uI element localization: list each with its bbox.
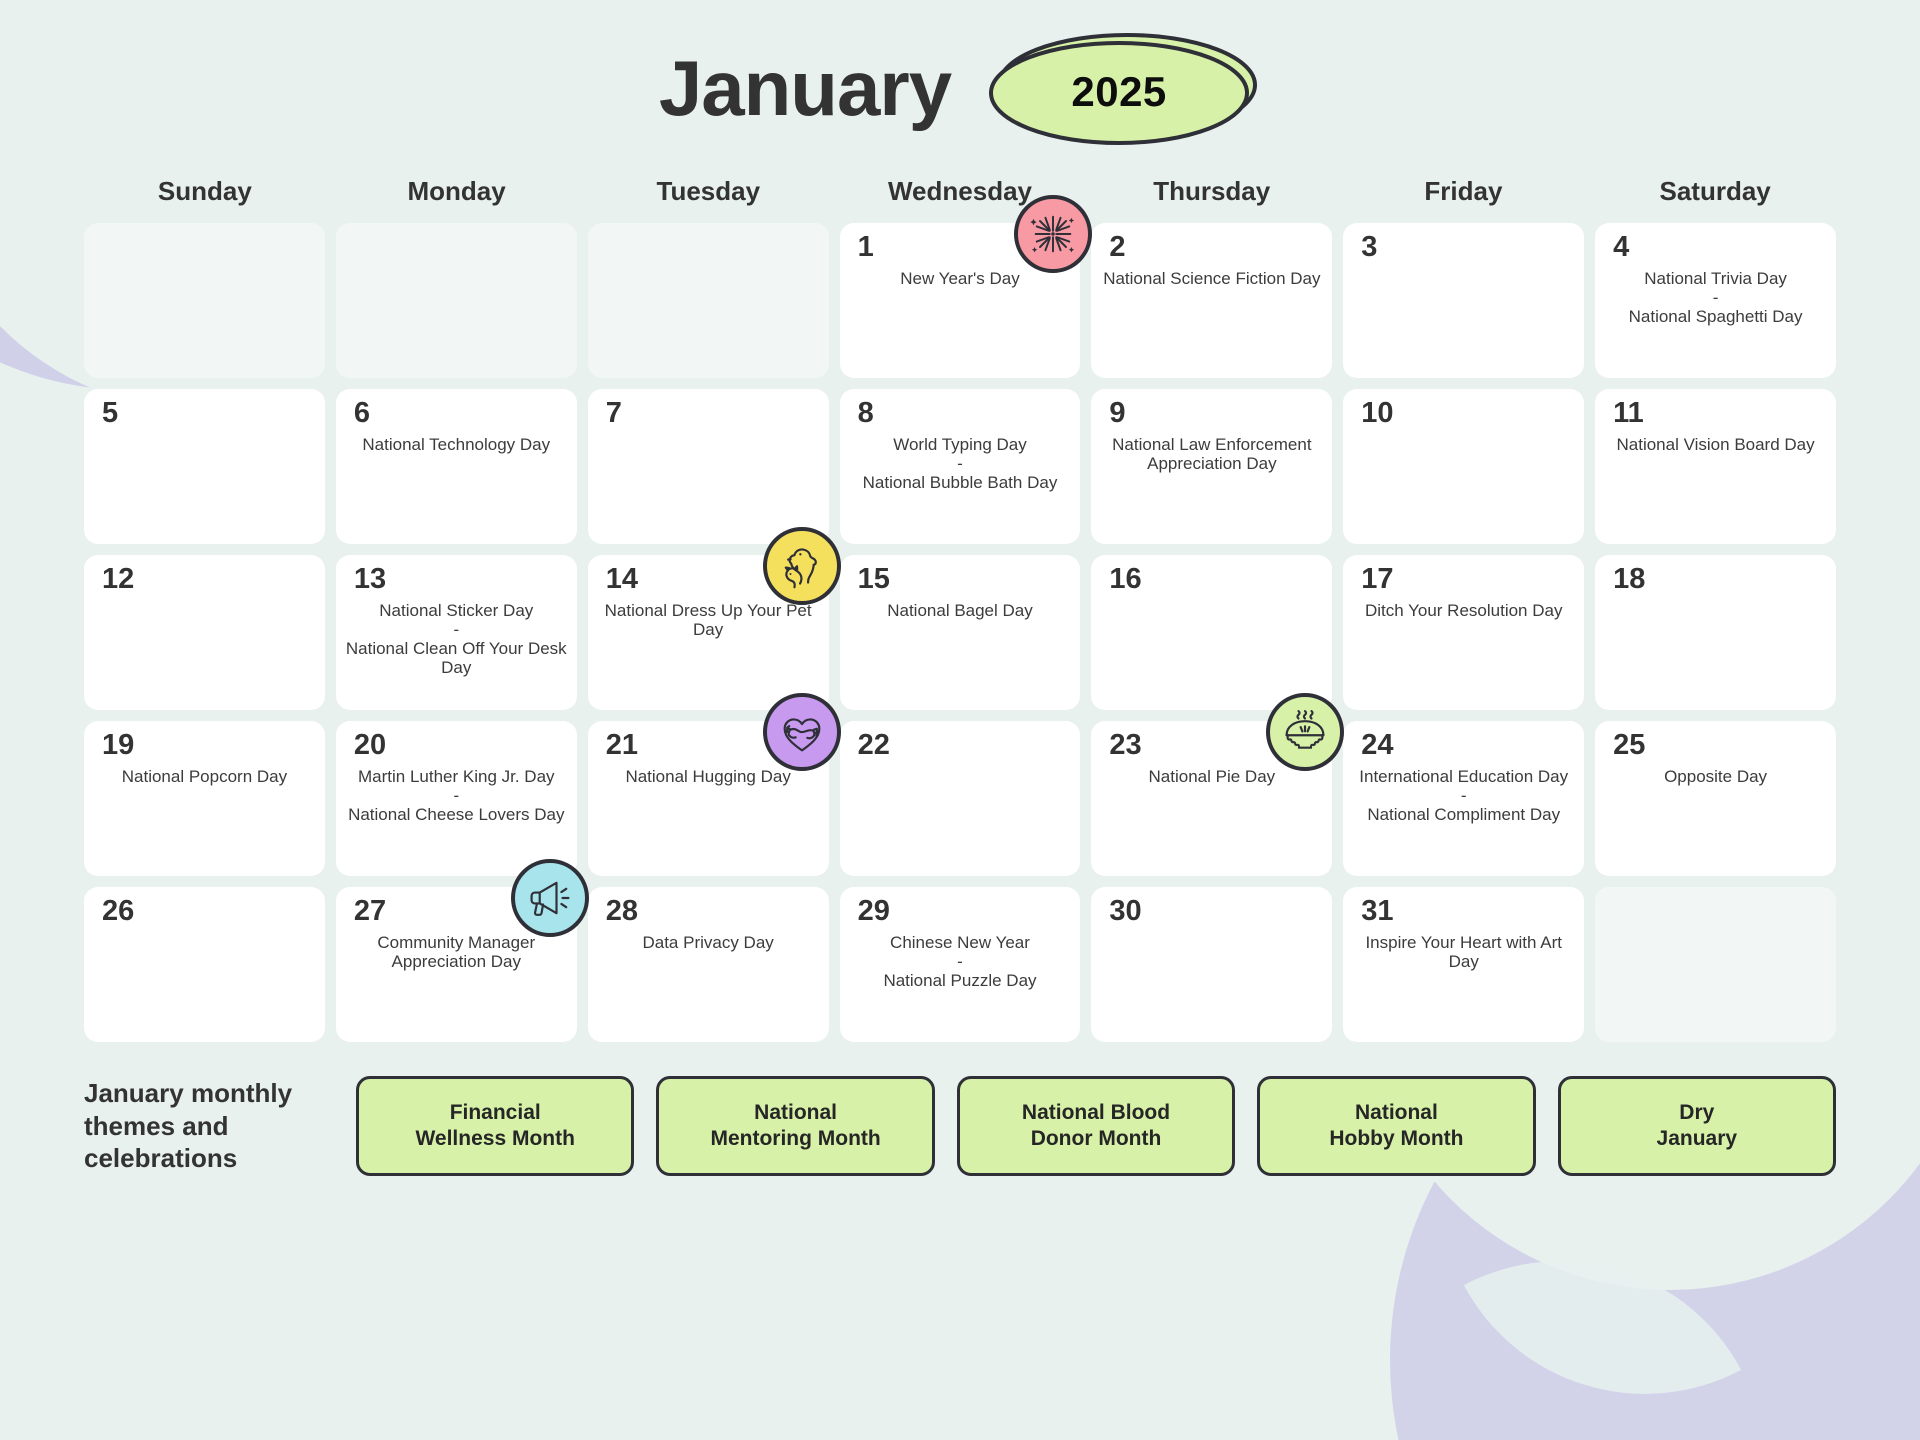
calendar-day-cell[interactable]: 18: [1595, 555, 1836, 710]
day-number: 1: [858, 233, 874, 262]
day-number: 15: [858, 565, 890, 594]
event-label: National Law Enforcement Appreciation Da…: [1099, 435, 1324, 473]
day-events: New Year's Day: [848, 269, 1073, 288]
event-label: National Popcorn Day: [92, 767, 317, 786]
day-events: National Sticker Day-National Clean Off …: [344, 601, 569, 677]
event-label: National Clean Off Your Desk Day: [344, 639, 569, 677]
event-label: National Sticker Day: [344, 601, 569, 620]
day-number: 17: [1361, 565, 1393, 594]
calendar-day-cell[interactable]: 4National Trivia Day-National Spaghetti …: [1595, 223, 1836, 378]
calendar-day-cell[interactable]: 11National Vision Board Day: [1595, 389, 1836, 544]
calendar-day-cell[interactable]: 19National Popcorn Day: [84, 721, 325, 876]
day-events: Chinese New Year-National Puzzle Day: [848, 933, 1073, 990]
event-label: National Spaghetti Day: [1603, 307, 1828, 326]
event-label: Community Manager Appreciation Day: [344, 933, 569, 971]
heart-hug-icon: [776, 706, 828, 758]
calendar-day-cell[interactable]: 27Community Manager Appreciation Day: [336, 887, 577, 1042]
day-events: National Bagel Day: [848, 601, 1073, 620]
day-events: National Pie Day: [1099, 767, 1324, 786]
calendar-day-cell[interactable]: 9National Law Enforcement Appreciation D…: [1091, 389, 1332, 544]
day-events: Community Manager Appreciation Day: [344, 933, 569, 971]
calendar-day-cell[interactable]: 20Martin Luther King Jr. Day-National Ch…: [336, 721, 577, 876]
event-separator: -: [344, 786, 569, 805]
weekday-header-friday: Friday: [1343, 176, 1585, 207]
day-events: National Science Fiction Day: [1099, 269, 1324, 288]
year-label: 2025: [1071, 68, 1166, 116]
fireworks-icon-badge: [1014, 195, 1092, 273]
calendar-day-cell[interactable]: 17Ditch Your Resolution Day: [1343, 555, 1584, 710]
day-number: 25: [1613, 731, 1645, 760]
calendar-day-cell[interactable]: 13National Sticker Day-National Clean Of…: [336, 555, 577, 710]
calendar-page: January 2025 SundayMondayTuesdayWednesda…: [0, 0, 1920, 1440]
calendar-cell-empty: [336, 223, 577, 378]
dog-cat-icon: [776, 540, 828, 592]
calendar-day-cell[interactable]: 25Opposite Day: [1595, 721, 1836, 876]
event-label: Martin Luther King Jr. Day: [344, 767, 569, 786]
event-label: National Compliment Day: [1351, 805, 1576, 824]
day-number: 20: [354, 731, 386, 760]
day-number: 2: [1109, 233, 1125, 262]
event-label: National Cheese Lovers Day: [344, 805, 569, 824]
day-number: 14: [606, 565, 638, 594]
calendar-day-cell[interactable]: 23National Pie Day: [1091, 721, 1332, 876]
day-number: 3: [1361, 233, 1377, 262]
day-number: 22: [858, 731, 890, 760]
event-label: World Typing Day: [848, 435, 1073, 454]
weekday-header-row: SundayMondayTuesdayWednesdayThursdayFrid…: [0, 176, 1920, 207]
monthly-theme-chip[interactable]: National Blood Donor Month: [957, 1076, 1235, 1176]
monthly-theme-chip[interactable]: Dry January: [1558, 1076, 1836, 1176]
heart-hug-icon-badge: [763, 693, 841, 771]
calendar-day-cell[interactable]: 29Chinese New Year-National Puzzle Day: [840, 887, 1081, 1042]
day-number: 6: [354, 399, 370, 428]
monthly-theme-chip[interactable]: National Hobby Month: [1257, 1076, 1535, 1176]
weekday-header-thursday: Thursday: [1091, 176, 1333, 207]
calendar-day-cell[interactable]: 8World Typing Day-National Bubble Bath D…: [840, 389, 1081, 544]
day-number: 23: [1109, 731, 1141, 760]
calendar-day-cell[interactable]: 22: [840, 721, 1081, 876]
event-label: National Science Fiction Day: [1099, 269, 1324, 288]
day-events: National Trivia Day-National Spaghetti D…: [1603, 269, 1828, 326]
day-number: 5: [102, 399, 118, 428]
megaphone-icon-badge: [511, 859, 589, 937]
event-label: National Hugging Day: [596, 767, 821, 786]
day-number: 9: [1109, 399, 1125, 428]
weekday-header-saturday: Saturday: [1594, 176, 1836, 207]
calendar-day-cell[interactable]: 3: [1343, 223, 1584, 378]
calendar-day-cell[interactable]: 31Inspire Your Heart with Art Day: [1343, 887, 1584, 1042]
fireworks-icon: [1027, 208, 1079, 260]
monthly-themes-section: January monthly themes and celebrations …: [0, 1042, 1920, 1176]
event-label: National Technology Day: [344, 435, 569, 454]
calendar-header: January 2025: [0, 0, 1920, 176]
event-label: Chinese New Year: [848, 933, 1073, 952]
calendar-day-cell[interactable]: 30: [1091, 887, 1332, 1042]
dog-cat-icon-badge: [763, 527, 841, 605]
event-label: Opposite Day: [1603, 767, 1828, 786]
day-number: 16: [1109, 565, 1141, 594]
day-events: National Law Enforcement Appreciation Da…: [1099, 435, 1324, 473]
calendar-cell-empty: [84, 223, 325, 378]
calendar-day-cell[interactable]: 5: [84, 389, 325, 544]
calendar-day-cell[interactable]: 24International Education Day-National C…: [1343, 721, 1584, 876]
event-label: National Pie Day: [1099, 767, 1324, 786]
event-separator: -: [1351, 786, 1576, 805]
calendar-day-cell[interactable]: 1New Year's Day: [840, 223, 1081, 378]
event-separator: -: [1603, 288, 1828, 307]
monthly-themes-title: January monthly themes and celebrations: [84, 1077, 334, 1175]
day-events: Ditch Your Resolution Day: [1351, 601, 1576, 620]
year-badge: 2025: [985, 27, 1261, 149]
day-number: 7: [606, 399, 622, 428]
day-events: Inspire Your Heart with Art Day: [1351, 933, 1576, 971]
day-events: World Typing Day-National Bubble Bath Da…: [848, 435, 1073, 492]
pie-icon: [1279, 706, 1331, 758]
monthly-theme-chip[interactable]: Financial Wellness Month: [356, 1076, 634, 1176]
event-label: National Trivia Day: [1603, 269, 1828, 288]
day-number: 18: [1613, 565, 1645, 594]
event-label: National Dress Up Your Pet Day: [596, 601, 821, 639]
event-label: National Bagel Day: [848, 601, 1073, 620]
day-number: 27: [354, 897, 386, 926]
day-number: 24: [1361, 731, 1393, 760]
decoration-bottom-right-leaf: [1464, 1189, 1741, 1440]
calendar-cell-empty: [588, 223, 829, 378]
weekday-header-monday: Monday: [336, 176, 578, 207]
calendar-day-cell[interactable]: 15National Bagel Day: [840, 555, 1081, 710]
event-label: National Vision Board Day: [1603, 435, 1828, 454]
day-events: National Technology Day: [344, 435, 569, 454]
day-number: 21: [606, 731, 638, 760]
pie-icon-badge: [1266, 693, 1344, 771]
event-label: Inspire Your Heart with Art Day: [1351, 933, 1576, 971]
calendar-day-cell[interactable]: 21National Hugging Day: [588, 721, 829, 876]
day-number: 12: [102, 565, 134, 594]
day-events: National Hugging Day: [596, 767, 821, 786]
event-label: New Year's Day: [848, 269, 1073, 288]
day-number: 8: [858, 399, 874, 428]
event-separator: -: [848, 454, 1073, 473]
day-number: 31: [1361, 897, 1393, 926]
event-separator: -: [848, 952, 1073, 971]
calendar-day-cell[interactable]: 28Data Privacy Day: [588, 887, 829, 1042]
calendar-day-cell[interactable]: 6National Technology Day: [336, 389, 577, 544]
event-separator: -: [344, 620, 569, 639]
weekday-header-sunday: Sunday: [84, 176, 326, 207]
megaphone-icon: [524, 872, 576, 924]
day-events: Opposite Day: [1603, 767, 1828, 786]
calendar-day-cell[interactable]: 7: [588, 389, 829, 544]
month-title: January: [659, 49, 951, 127]
calendar-grid: 1New Year's Day 2National Science Fictio…: [0, 223, 1920, 1042]
day-number: 10: [1361, 399, 1393, 428]
day-events: National Vision Board Day: [1603, 435, 1828, 454]
day-number: 19: [102, 731, 134, 760]
day-events: International Education Day-National Com…: [1351, 767, 1576, 824]
calendar-cell-empty: [1595, 887, 1836, 1042]
calendar-day-cell[interactable]: 2National Science Fiction Day: [1091, 223, 1332, 378]
day-number: 28: [606, 897, 638, 926]
day-number: 30: [1109, 897, 1141, 926]
monthly-themes-chips: Financial Wellness MonthNational Mentori…: [356, 1076, 1836, 1176]
event-label: Ditch Your Resolution Day: [1351, 601, 1576, 620]
calendar-day-cell[interactable]: 14National Dress Up Your Pet Day: [588, 555, 829, 710]
day-events: Data Privacy Day: [596, 933, 821, 952]
event-label: International Education Day: [1351, 767, 1576, 786]
monthly-theme-chip[interactable]: National Mentoring Month: [656, 1076, 934, 1176]
event-label: National Bubble Bath Day: [848, 473, 1073, 492]
event-label: National Puzzle Day: [848, 971, 1073, 990]
calendar-day-cell[interactable]: 26: [84, 887, 325, 1042]
day-events: National Popcorn Day: [92, 767, 317, 786]
calendar-day-cell[interactable]: 10: [1343, 389, 1584, 544]
event-label: Data Privacy Day: [596, 933, 821, 952]
weekday-header-tuesday: Tuesday: [587, 176, 829, 207]
calendar-day-cell[interactable]: 12: [84, 555, 325, 710]
day-number: 4: [1613, 233, 1629, 262]
day-number: 29: [858, 897, 890, 926]
calendar-day-cell[interactable]: 16: [1091, 555, 1332, 710]
day-number: 26: [102, 897, 134, 926]
day-events: National Dress Up Your Pet Day: [596, 601, 821, 639]
day-events: Martin Luther King Jr. Day-National Chee…: [344, 767, 569, 824]
day-number: 11: [1613, 399, 1644, 428]
day-number: 13: [354, 565, 386, 594]
